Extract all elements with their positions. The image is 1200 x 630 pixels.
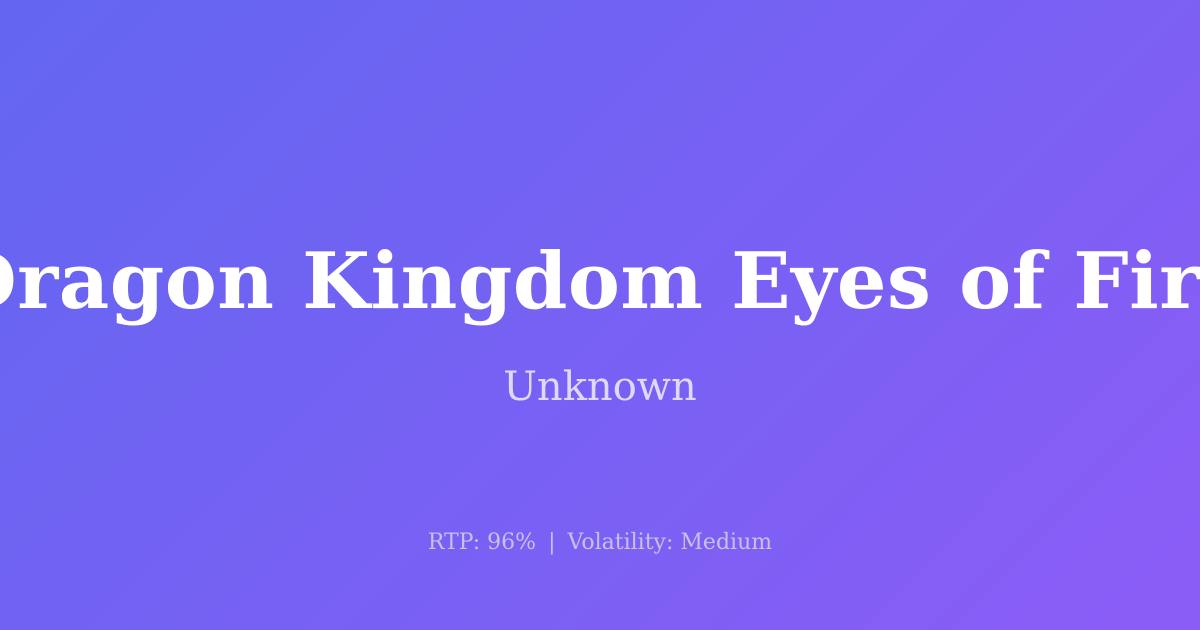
page-title: Dragon Kingdom Eyes of Fire xyxy=(0,236,1200,328)
meta-separator: | xyxy=(543,530,560,555)
title-row: Dragon Kingdom Eyes of Fire xyxy=(0,236,1200,328)
rtp-label: RTP: xyxy=(428,530,480,555)
volatility-value: Medium xyxy=(680,530,772,555)
og-card: Dragon Kingdom Eyes of Fire Unknown RTP:… xyxy=(0,0,1200,630)
game-meta-line: RTP: 96% | Volatility: Medium xyxy=(0,529,1200,557)
rtp-value: 96% xyxy=(487,530,536,555)
volatility-label: Volatility: xyxy=(568,530,674,555)
provider-subtitle: Unknown xyxy=(0,362,1200,412)
